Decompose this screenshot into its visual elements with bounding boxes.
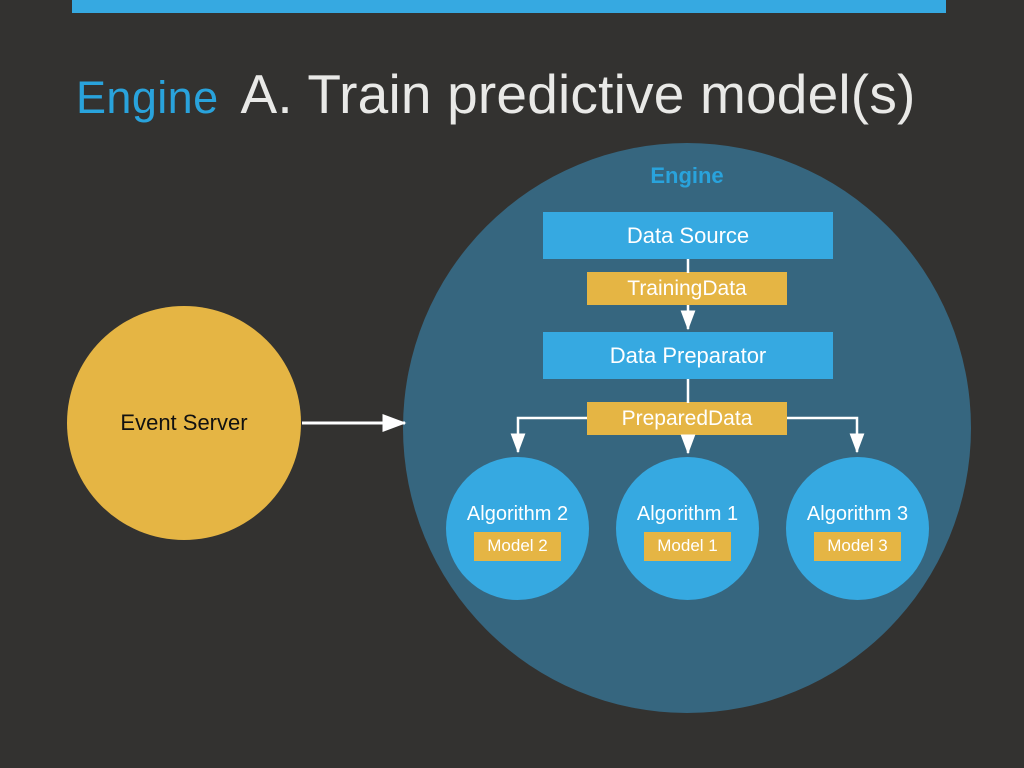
node-prepared-data: PreparedData: [587, 402, 787, 435]
node-algorithm-label: Algorithm 2: [467, 503, 568, 526]
node-data-preparator-label: Data Preparator: [610, 343, 767, 369]
node-algorithm-label: Algorithm 3: [807, 503, 908, 526]
node-model-badge: Model 3: [814, 532, 900, 561]
node-model-badge: Model 1: [644, 532, 730, 561]
event-server-node: Event Server: [67, 306, 301, 540]
node-data-preparator: Data Preparator: [543, 332, 833, 379]
node-data-source: Data Source: [543, 212, 833, 259]
title-eyebrow: Engine: [76, 72, 219, 124]
top-accent-bar: [72, 0, 946, 13]
node-model-badge: Model 2: [474, 532, 560, 561]
node-prepared-data-label: PreparedData: [622, 407, 753, 431]
slide-title-row: Engine A. Train predictive model(s): [76, 62, 916, 136]
node-data-source-label: Data Source: [627, 223, 749, 249]
engine-label: Engine: [403, 163, 971, 189]
node-training-data-label: TrainingData: [627, 277, 746, 301]
slide-canvas: Engine A. Train predictive model(s) Engi…: [0, 0, 1024, 768]
node-algorithm: Algorithm 1 Model 1: [616, 457, 759, 600]
node-algorithm-label: Algorithm 1: [637, 503, 738, 526]
node-algorithm: Algorithm 3 Model 3: [786, 457, 929, 600]
event-server-label: Event Server: [120, 410, 247, 436]
node-training-data: TrainingData: [587, 272, 787, 305]
node-algorithm: Algorithm 2 Model 2: [446, 457, 589, 600]
page-title: A. Train predictive model(s): [241, 62, 916, 126]
